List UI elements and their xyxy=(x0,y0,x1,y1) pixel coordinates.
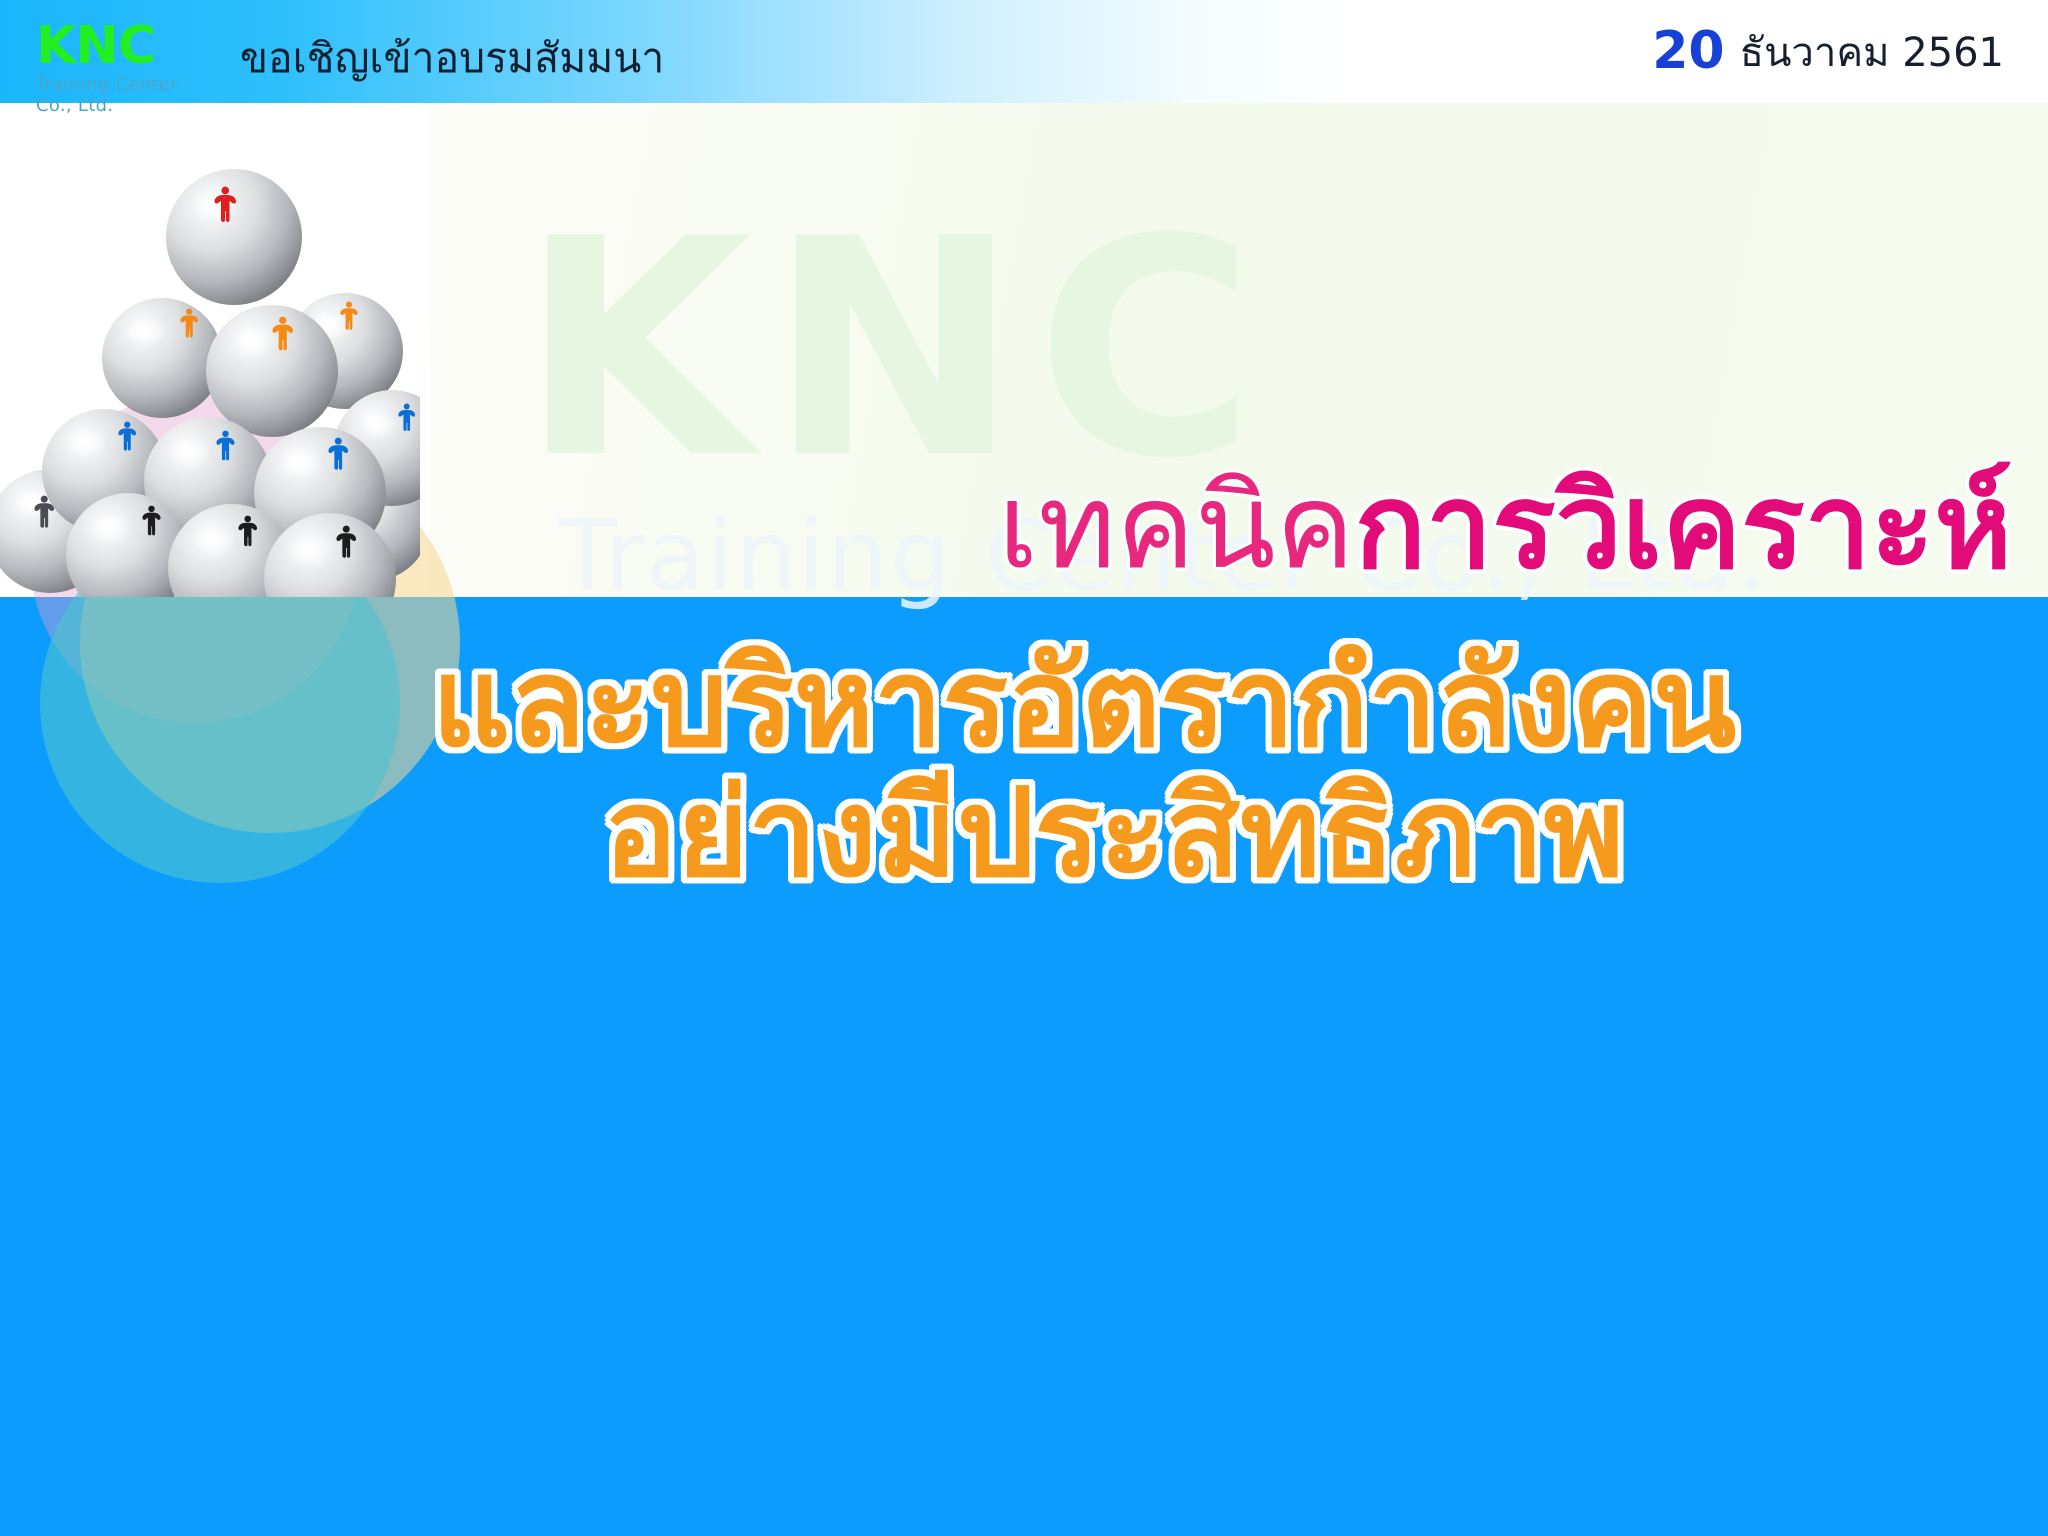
invite-text: ขอเชิญเข้าอบรมสัมมนา xyxy=(240,26,664,91)
knc-logo-subtitle: Training Center Co., Ltd. xyxy=(36,74,218,116)
sphere-pyramid-svg xyxy=(0,103,420,597)
sphere-top-red xyxy=(166,169,302,305)
event-date-day: 20 xyxy=(1652,21,1724,81)
header-bar: KNC Training Center Co., Ltd. ขอเชิญเข้า… xyxy=(0,0,2048,103)
flyer-slide: KNC Training Center Co., Ltd. xyxy=(0,0,2048,1536)
event-date-month-year: ธันวาคม 2561 xyxy=(1740,30,2004,76)
header-brand-group: KNC Training Center Co., Ltd. ขอเชิญเข้า… xyxy=(36,10,664,116)
knc-logo[interactable]: KNC Training Center Co., Ltd. xyxy=(36,10,218,116)
knc-logo-mark: KNC xyxy=(36,20,218,72)
sphere-row2-left-orange xyxy=(102,298,222,418)
blue-body-panel xyxy=(0,597,2048,1536)
panel-background-wash xyxy=(430,103,2048,597)
sphere-row2-center-orange xyxy=(206,305,338,437)
sphere-pyramid-image xyxy=(0,103,420,597)
event-date: 20 ธันวาคม 2561 xyxy=(1652,20,2004,84)
